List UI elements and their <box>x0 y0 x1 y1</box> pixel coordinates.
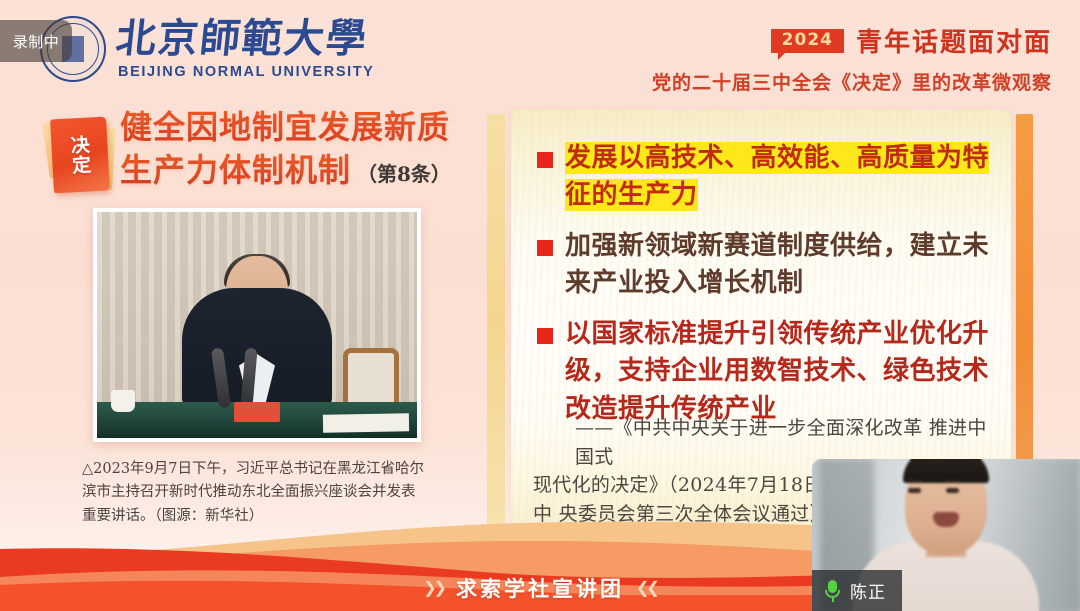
mic-stem-shape <box>832 597 834 602</box>
bullet-square-icon <box>537 152 553 168</box>
bullet-item: 发展以高技术、高效能、高质量为特征的生产力 <box>537 140 991 215</box>
decision-book-icon: 决定 <box>44 112 116 198</box>
bullet-item: 以国家标准提升引领传统产业优化升级，支持企业用数智技术、绿色技术改造提升传统产业 <box>537 316 991 428</box>
program-header-line1: 2024 青年话题面对面 <box>652 22 1052 59</box>
banner-label: 求索学社宣讲团 <box>456 573 624 603</box>
participant-name: 陈正 <box>850 578 886 603</box>
slide-title-text: 健全因地制宜发展新质 生产力体制机制 （第8条） <box>120 106 451 192</box>
photo-nameplate <box>234 402 280 422</box>
card-gold-strip <box>487 114 505 534</box>
program-subtitle: 党的二十届三中全会《决定》里的改革微观察 <box>652 68 1052 95</box>
photo-papers <box>323 413 409 432</box>
participant-video-tile[interactable]: 陈正 <box>812 459 1080 611</box>
photo-teacup <box>111 390 135 412</box>
bullet-text: 发展以高技术、高效能、高质量为特征的生产力 <box>565 142 989 211</box>
bullet-item: 加强新领域新赛道制度供给，建立未来产业投入增长机制 <box>537 228 991 303</box>
recording-label: 录制中 <box>13 31 60 52</box>
bullet-text-wrap: 发展以高技术、高效能、高质量为特征的生产力 <box>565 140 991 215</box>
bullet-text: 加强新领域新赛道制度供给，建立未来产业投入增长机制 <box>565 228 991 303</box>
slide-title-line2-wrap: 生产力体制机制 （第8条） <box>120 149 451 192</box>
bullet-square-icon <box>537 328 553 344</box>
recording-status-badge: 录制中 <box>0 20 72 62</box>
decision-badge-label: 决定 <box>41 110 119 201</box>
slide-title-line2: 生产力体制机制 <box>120 149 351 192</box>
banner-chevron-right-icon: ❮❮ <box>636 578 657 598</box>
program-title: 青年话题面对面 <box>856 22 1052 59</box>
microphone-on-icon[interactable] <box>824 580 841 602</box>
university-name-cn: 北京師範大學 <box>114 19 377 59</box>
presentation-stage: 录制中 北京師範大學 BEIJING NORMAL UNIVERSITY 202… <box>0 0 1080 611</box>
speech-photo-frame <box>93 208 421 442</box>
program-header: 2024 青年话题面对面 党的二十届三中全会《决定》里的改革微观察 <box>652 22 1052 95</box>
slide-title-line1: 健全因地制宜发展新质 <box>120 106 451 149</box>
bullet-square-icon <box>537 240 553 256</box>
university-logo-text: 北京師範大學 BEIJING NORMAL UNIVERSITY <box>116 19 374 80</box>
slide-title-row: 决定 健全因地制宜发展新质 生产力体制机制 （第8条） <box>44 106 451 198</box>
speech-photo <box>97 212 417 438</box>
slide-title-clause: （第8条） <box>357 158 451 187</box>
university-logo: 北京師範大學 BEIJING NORMAL UNIVERSITY <box>40 16 374 82</box>
banner-chevron-left-icon: ❯❯ <box>423 578 444 598</box>
participant-name-chip: 陈正 <box>812 570 902 611</box>
university-name-en: BEIJING NORMAL UNIVERSITY <box>116 65 374 80</box>
bullet-list: 发展以高技术、高效能、高质量为特征的生产力 加强新领域新赛道制度供给，建立未来产… <box>537 140 991 441</box>
year-badge: 2024 <box>771 29 844 53</box>
bullet-text: 以国家标准提升引领传统产业优化升级，支持企业用数智技术、绿色技术改造提升传统产业 <box>565 316 991 428</box>
